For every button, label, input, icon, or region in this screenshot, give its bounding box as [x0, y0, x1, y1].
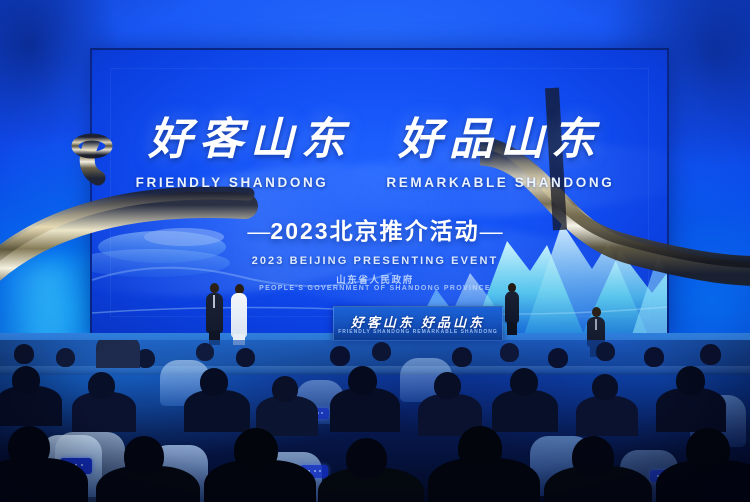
audience-shoulders: [0, 458, 88, 502]
audience-head: [12, 366, 40, 394]
audience-head: [56, 348, 75, 367]
audience-head: [234, 428, 278, 472]
audience-head: [88, 372, 115, 399]
dash-left: —: [247, 218, 270, 244]
audience-head: [686, 428, 730, 472]
organizer-en: PEOPLE'S GOVERNMENT OF SHANDONG PROVINCE: [0, 285, 750, 292]
audience-head: [700, 344, 721, 365]
audience-shoulders: [492, 390, 558, 432]
slogan-calligraphy-row: 好客山东 好品山东: [0, 118, 750, 162]
audience-head: [200, 368, 228, 396]
audience-head: [372, 342, 391, 361]
audience-head: [330, 346, 350, 366]
event-title-en: 2023 BEIJING PRESENTING EVENT: [0, 255, 750, 267]
event-title-cn-text: 2023北京推介活动: [270, 218, 479, 244]
presenter-center: [504, 283, 520, 335]
audience-head: [572, 436, 614, 478]
audience-head: [458, 426, 502, 470]
audience-head: [124, 436, 164, 476]
audience-head: [14, 344, 34, 364]
audience-head: [676, 366, 705, 395]
audience-head: [346, 438, 387, 479]
event-photo: 好客山东 好品山东 FRIENDLY SHANDONG REMARKABLE S…: [0, 0, 750, 502]
podium-sign-en: FRIENDLY SHANDONG REMARKABLE SHANDONG: [334, 329, 502, 335]
organizer-cn: 山东省人民政府: [0, 272, 750, 286]
audience-head: [592, 374, 618, 400]
audience-head: [510, 368, 538, 396]
audience-head: [196, 343, 214, 361]
dash-right: —: [480, 218, 503, 244]
audience-head: [644, 347, 664, 367]
audience-shoulders: [576, 396, 638, 436]
audience-head: [452, 347, 472, 367]
audience-head: [500, 343, 519, 362]
screen-title-block: 好客山东 好品山东 FRIENDLY SHANDONG REMARKABLE S…: [0, 118, 750, 267]
host-male: [205, 283, 223, 345]
audience-head: [8, 426, 50, 468]
slogan-left-en: FRIENDLY SHANDONG: [136, 175, 329, 190]
audience-head: [548, 348, 568, 368]
audience-head: [348, 366, 377, 395]
audience-shoulders: [184, 390, 250, 432]
host-female: [230, 284, 248, 345]
audience-head: [434, 372, 461, 399]
slogan-right-en: REMARKABLE SHANDONG: [386, 175, 614, 190]
event-title-cn: —2023北京推介活动—: [0, 212, 750, 246]
slogan-left-cn: 好客山东: [148, 118, 352, 162]
podium-led-sign: 好客山东 好品山东 FRIENDLY SHANDONG REMARKABLE S…: [333, 306, 503, 341]
audience-head: [236, 348, 255, 367]
audience-shoulders: [96, 340, 140, 368]
audience-area: [0, 340, 750, 502]
audience-head: [596, 342, 615, 361]
audience-head: [272, 376, 298, 402]
slogan-english-row: FRIENDLY SHANDONG REMARKABLE SHANDONG: [0, 175, 750, 190]
slogan-right-cn: 好品山东: [398, 118, 602, 162]
